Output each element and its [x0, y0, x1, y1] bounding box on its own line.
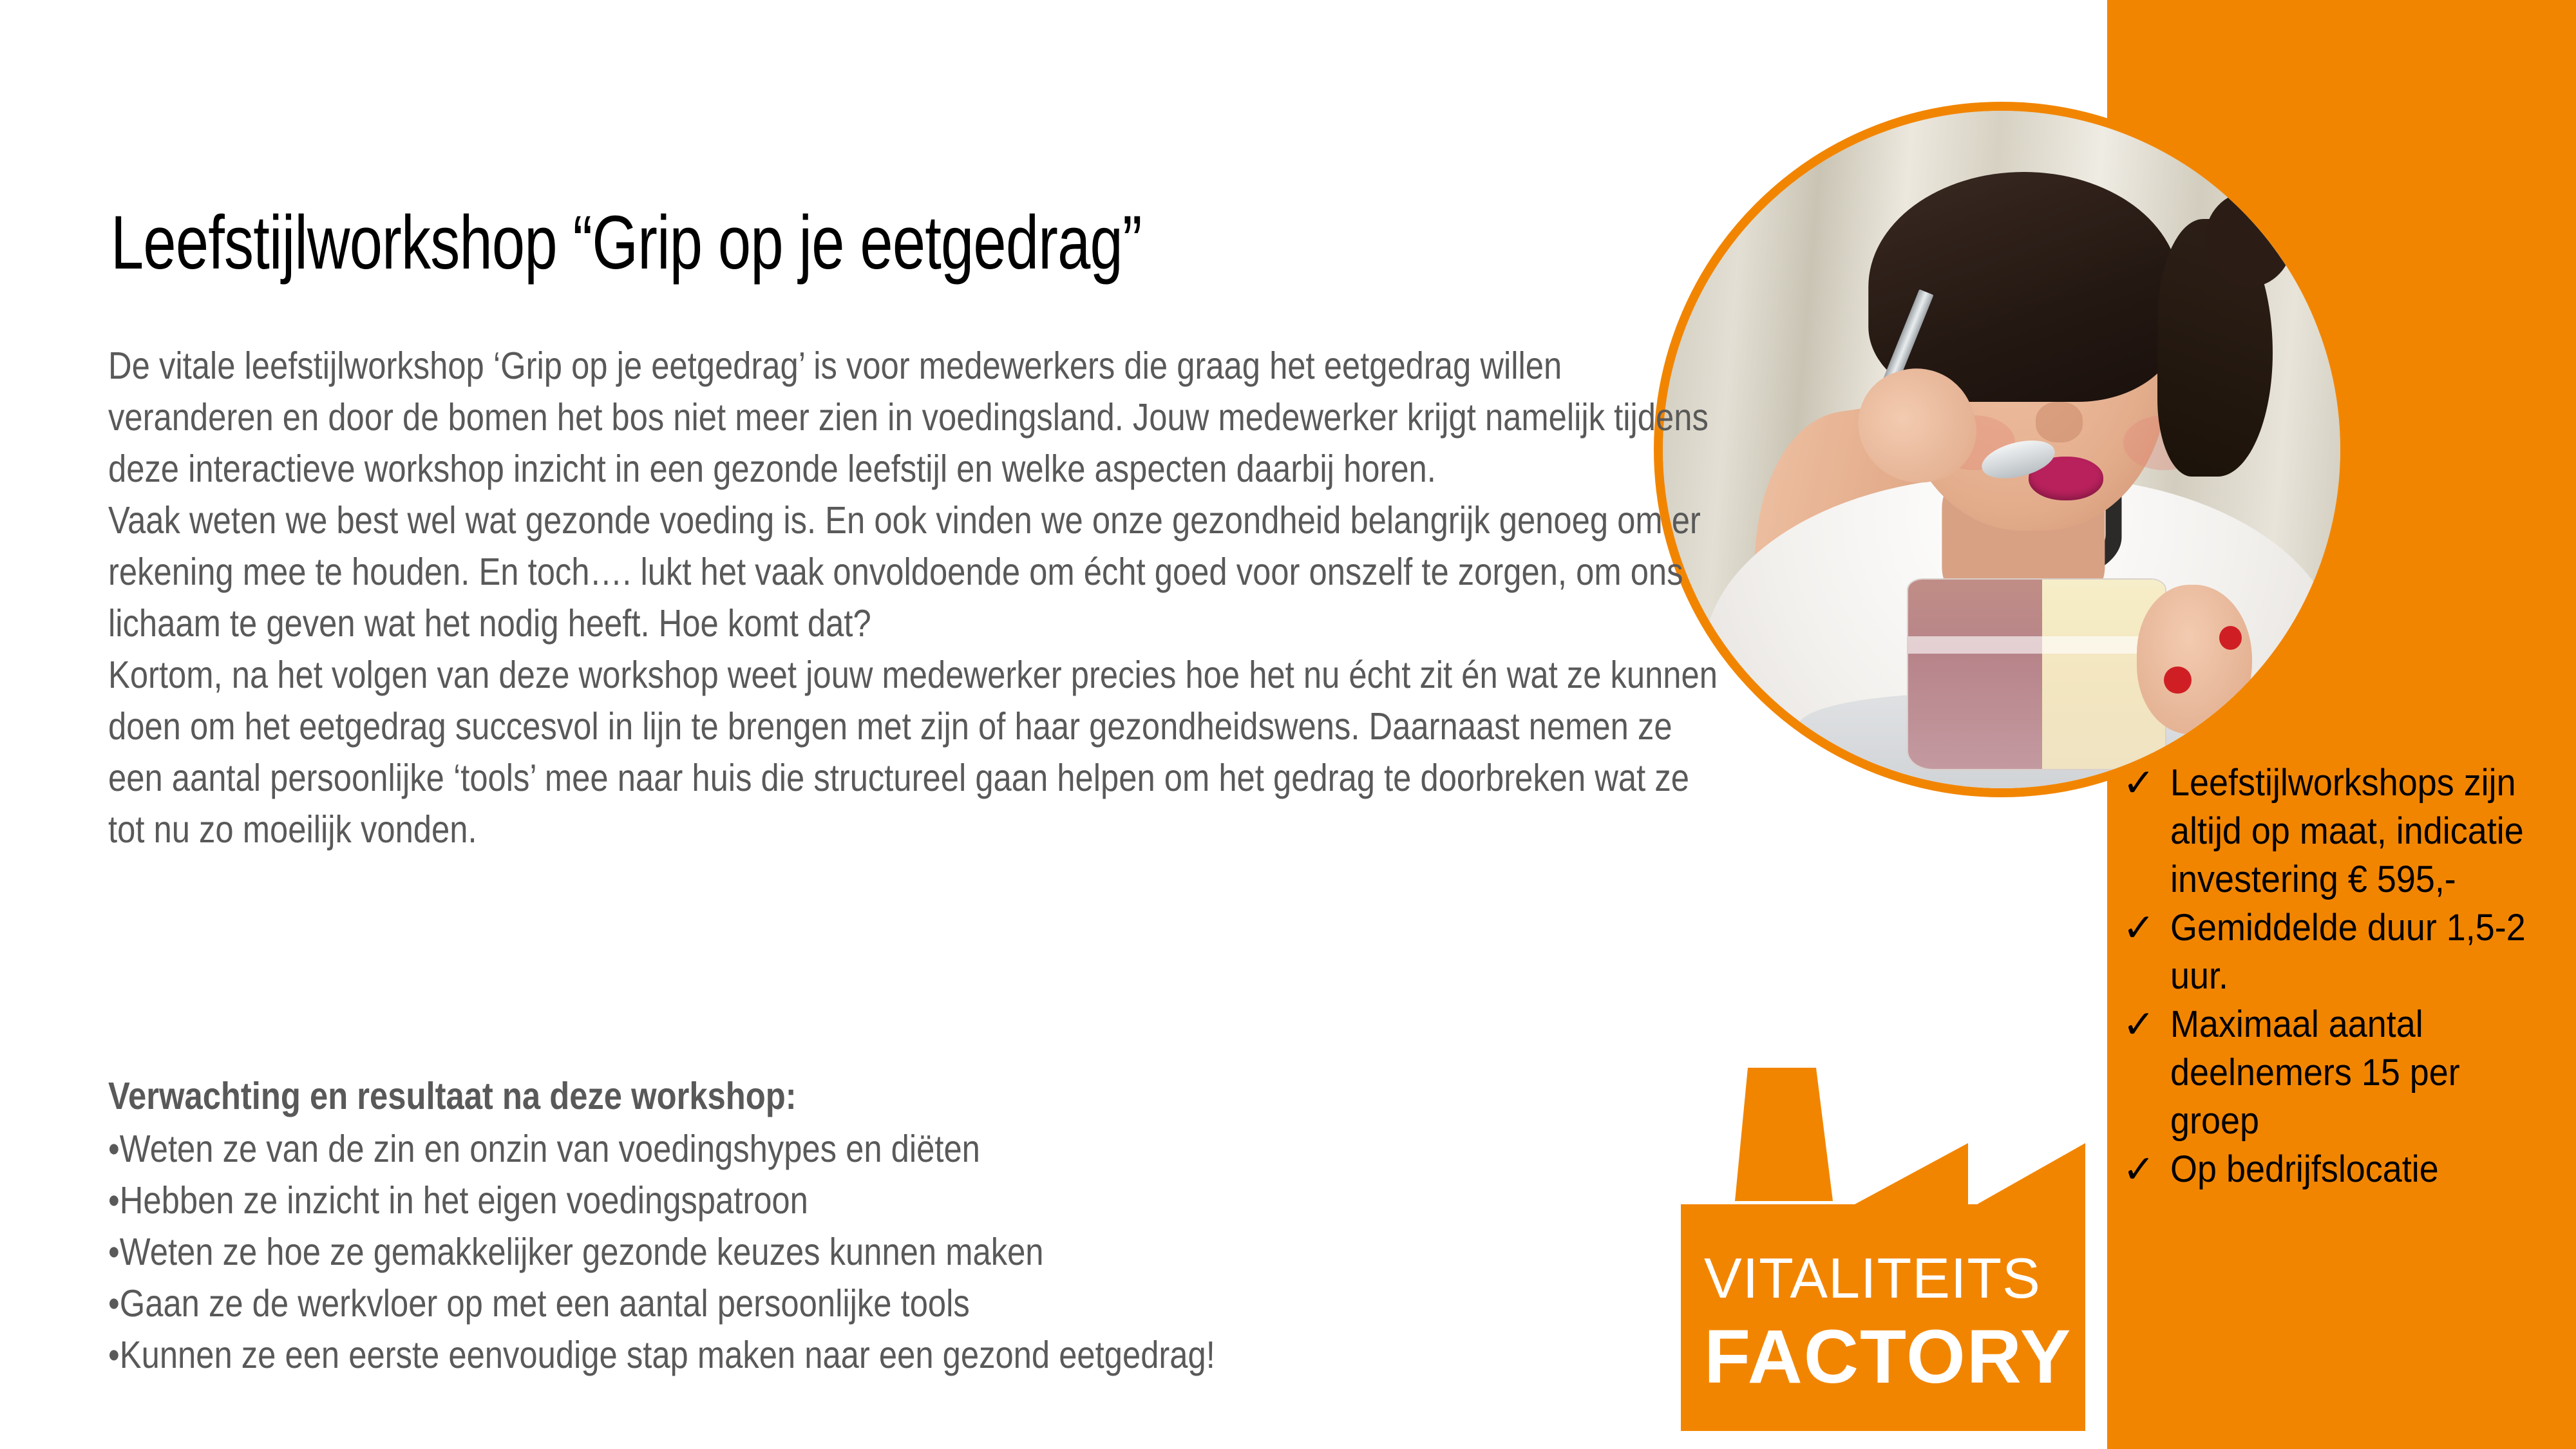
photo-inner — [1663, 111, 2340, 788]
photo-fingernail-1 — [2164, 667, 2191, 694]
factory-roof-tooth-2 — [1977, 1143, 2085, 1204]
paragraph-intro: De vitale leefstijlworkshop ‘Grip op je … — [108, 340, 1734, 495]
logo-line1: VITALITEITS — [1704, 1246, 2041, 1310]
results-bullet: •Weten ze van de zin en onzin van voedin… — [108, 1123, 1734, 1175]
checklist-item-label: Leefstijlworkshops zijn altijd op maat, … — [2170, 759, 2545, 904]
paragraph-outcome: Kortom, na het volgen van deze workshop … — [108, 649, 1734, 855]
results-bullet: •Weten ze hoe ze gemakkelijker gezonde k… — [108, 1226, 1734, 1278]
vitaliteits-factory-logo: VITALITEITS FACTORY — [1681, 1066, 2085, 1431]
body-copy: De vitale leefstijlworkshop ‘Grip op je … — [108, 340, 1738, 855]
checklist-item: ✓ Gemiddelde duur 1,5-2 uur. — [2123, 904, 2573, 1000]
slide-root: Leefstijlworkshop “Grip op je eetgedrag”… — [0, 0, 2576, 1449]
workshop-photo — [1654, 102, 2349, 797]
checklist-item-label: Op bedrijfslocatie — [2170, 1145, 2545, 1193]
photo-icecream-strawberry — [1908, 580, 2042, 770]
checklist-item-label: Maximaal aantal deelnemers 15 per groep — [2170, 1000, 2545, 1145]
check-icon: ✓ — [2123, 1000, 2170, 1048]
photo-nose — [2036, 402, 2083, 442]
factory-icon: VITALITEITS FACTORY — [1681, 1066, 2085, 1431]
photo-hair — [1868, 172, 2180, 402]
results-bullet: •Kunnen ze een eerste eenvoudige stap ma… — [108, 1329, 1734, 1381]
checklist-item-label: Gemiddelde duur 1,5-2 uur. — [2170, 904, 2545, 1000]
results-bullet: •Hebben ze inzicht in het eigen voedings… — [108, 1175, 1734, 1226]
checklist-item: ✓ Leefstijlworkshops zijn altijd op maat… — [2123, 759, 2573, 904]
paragraph-why: Vaak weten we best wel wat gezonde voedi… — [108, 495, 1734, 649]
logo-line2: FACTORY — [1704, 1314, 2072, 1399]
page-title: Leefstijlworkshop “Grip op je eetgedrag” — [111, 204, 1142, 283]
photo-icecream-tub — [1907, 578, 2167, 771]
check-icon: ✓ — [2123, 904, 2170, 952]
photo-hair-bun — [2205, 192, 2293, 287]
checklist-item: ✓ Op bedrijfslocatie — [2123, 1145, 2573, 1193]
photo-hand-holding-tub — [2137, 585, 2252, 734]
results-heading: Verwachting en resultaat na deze worksho… — [108, 1070, 1734, 1122]
sidebar-checklist: ✓ Leefstijlworkshops zijn altijd op maat… — [2123, 759, 2573, 1193]
factory-chimney — [1735, 1068, 1833, 1201]
results-block: Verwachting en resultaat na deze worksho… — [108, 1070, 1738, 1381]
check-icon: ✓ — [2123, 1145, 2170, 1193]
photo-tub-rim — [1908, 636, 2166, 654]
check-icon: ✓ — [2123, 759, 2170, 807]
results-bullet: •Gaan ze de werkvloer op met een aantal … — [108, 1278, 1734, 1329]
factory-roof-tooth-1 — [1855, 1143, 1968, 1204]
checklist-item: ✓ Maximaal aantal deelnemers 15 per groe… — [2123, 1000, 2573, 1145]
